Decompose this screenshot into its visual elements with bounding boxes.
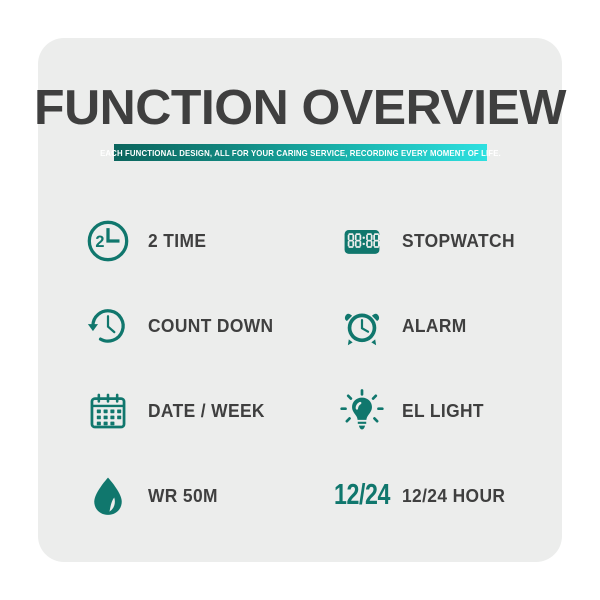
feature-item-2-time[interactable]: 2 2 TIME (46, 198, 300, 283)
svg-text:2: 2 (95, 233, 104, 251)
feature-item-date-week[interactable]: DATE / WEEK (46, 368, 300, 453)
countdown-clock-arrow-icon (82, 300, 134, 352)
page-title: FUNCTION OVERVIEW (33, 38, 567, 134)
feature-label: ALARM (402, 315, 467, 337)
twelve-twentyfour-icon: 12/24 (336, 470, 388, 522)
feature-label: DATE / WEEK (148, 400, 265, 422)
feature-label: COUNT DOWN (148, 315, 273, 337)
calendar-icon (82, 385, 134, 437)
feature-label: WR 50M (148, 485, 218, 507)
feature-overview-card: FUNCTION OVERVIEW EACH FUNCTIONAL DESIGN… (38, 38, 562, 562)
twelve-twentyfour-icon-text: 12/24 (334, 479, 390, 512)
feature-item-stopwatch[interactable]: STOPWATCH (300, 198, 554, 283)
feature-label: STOPWATCH (402, 230, 515, 252)
feature-item-12-24-hour[interactable]: 12/24 12/24 HOUR (300, 453, 554, 538)
feature-label: 2 TIME (148, 230, 206, 252)
feature-label: 12/24 HOUR (402, 485, 505, 507)
feature-item-count-down[interactable]: COUNT DOWN (46, 283, 300, 368)
feature-item-el-light[interactable]: EL LIGHT (300, 368, 554, 453)
subtitle-text: EACH FUNCTIONAL DESIGN, ALL FOR YOUR CAR… (100, 148, 501, 158)
feature-grid: 2 2 TIME (38, 198, 562, 538)
feature-item-alarm[interactable]: ALARM (300, 283, 554, 368)
two-time-clock-icon: 2 (82, 215, 134, 267)
feature-item-wr-50m[interactable]: WR 50M (46, 453, 300, 538)
water-drop-icon (82, 470, 134, 522)
stopwatch-digital-icon (336, 215, 388, 267)
poster-canvas: FUNCTION OVERVIEW EACH FUNCTIONAL DESIGN… (0, 0, 600, 600)
feature-label: EL LIGHT (402, 400, 484, 422)
subtitle-gradient-bar: EACH FUNCTIONAL DESIGN, ALL FOR YOUR CAR… (114, 144, 487, 161)
card-header: FUNCTION OVERVIEW EACH FUNCTIONAL DESIGN… (38, 38, 562, 161)
alarm-clock-icon (336, 300, 388, 352)
light-bulb-icon (336, 385, 388, 437)
